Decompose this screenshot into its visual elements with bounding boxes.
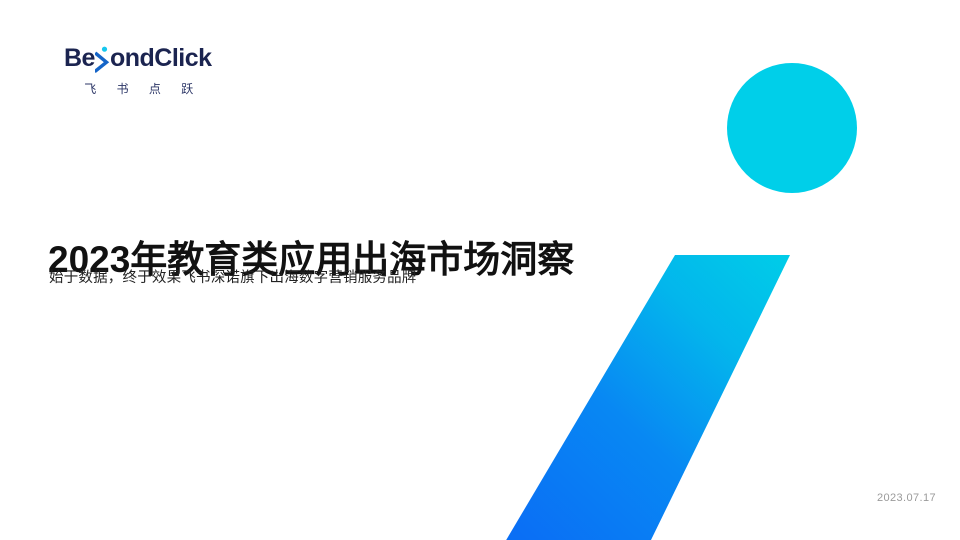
logo: Be ondClick 飞 书 点 跃 — [64, 46, 216, 97]
logo-wordmark: Be ondClick — [64, 46, 216, 73]
chevron-dot-icon — [95, 46, 110, 73]
page-subtitle: 始于数据，终于效果飞书深诺旗下出海数字营销服务品牌 — [49, 266, 417, 287]
logo-wordmark-part-1: Be — [64, 46, 95, 71]
slide-date: 2023.07.17 — [877, 492, 936, 504]
title-slide: Be ondClick 飞 书 点 跃 2023年教育类应用出海市场洞察 始于数… — [0, 0, 960, 540]
gradient-parallelogram-decoration — [490, 250, 800, 540]
logo-wordmark-part-2: ondClick — [110, 46, 212, 71]
cyan-circle-decoration — [727, 63, 857, 193]
logo-chinese-name: 飞 书 点 跃 — [64, 80, 216, 97]
